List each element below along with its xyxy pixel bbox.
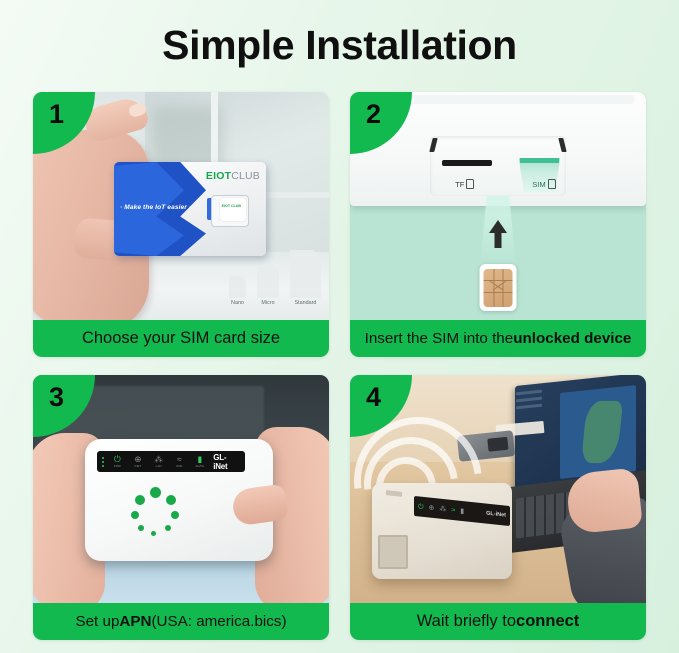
sim-size-standard: Standard (290, 250, 321, 306)
step-caption-4: Wait briefly to connect (350, 603, 646, 640)
spinner-dot (165, 525, 171, 531)
card-logo-primary: EIOT (206, 170, 231, 182)
step-number-4: 4 (366, 382, 381, 413)
router-brand-label: GL-iNet (486, 511, 506, 519)
signal-icon: ▮ (460, 507, 464, 514)
internet-label: INET (135, 464, 142, 468)
indicator-wifi: ≈ WIFI (172, 455, 187, 469)
spinner-dot (135, 495, 145, 505)
step-card-3: ⏻ PWR ⊕ INET ⁂ LAN ≈ WIFI (33, 375, 329, 640)
step-caption-4-pre: Wait briefly to (417, 612, 516, 631)
signal-label: 4G/5G (195, 464, 204, 468)
step-caption-3-pre: Set up (75, 613, 119, 630)
lan-label: LAN (156, 464, 162, 468)
router-brand-label: GL-iNet (213, 453, 240, 471)
spinner-dot (150, 487, 161, 498)
indicator-internet: ⊕ INET (131, 455, 146, 469)
sim-card: EIOTCLUB · Make the IoT easier · EIOT CL… (114, 162, 266, 256)
step-caption-2-bold: unlocked device (513, 330, 631, 347)
spinner-dot (171, 511, 179, 519)
micro-card-icon (257, 265, 279, 298)
battery-dots-icon (102, 457, 104, 467)
router-led-panel: ⏻ PWR ⊕ INET ⁂ LAN ≈ WIFI (97, 451, 245, 472)
battery-dot (102, 465, 104, 467)
tf-card-icon (466, 179, 474, 189)
spinner-dot (138, 525, 144, 531)
tf-slot-label: TF (455, 180, 464, 189)
router-ethernet-port (378, 535, 408, 569)
indicator-power: ⏻ PWR (110, 455, 125, 469)
power-icon: ⏻ (114, 455, 121, 464)
step-caption-2-text: Insert the SIM into the (365, 330, 514, 347)
loading-spinner-icon (129, 487, 181, 539)
sim-card-icon (548, 179, 556, 189)
card-tagline: · Make the IoT easier · (120, 204, 204, 211)
step-card-4: ⏻ ⊕ ⁂ ≈ ▮ GL-iNet 4 Wait briefly to conn… (350, 375, 646, 640)
lan-icon: ⁂ (154, 455, 163, 464)
installation-infographic: Simple Installation EIOTCLUB (0, 0, 679, 653)
globe-icon: ⊕ (134, 455, 141, 464)
step-caption-4-bold: connect (516, 612, 579, 631)
spinner-dot (151, 531, 156, 536)
step-number-1: 1 (49, 99, 64, 130)
spinner-dot (166, 495, 176, 505)
sidebar-line (516, 404, 542, 410)
micro-label: Micro (261, 300, 274, 306)
punch-out-sim-label: EIOT CLUB (222, 204, 241, 208)
sim-size-chart: Nano Micro Standard (229, 250, 321, 306)
sidebar-line (516, 397, 542, 403)
step-caption-3-post: (USA: america.bics) (151, 613, 286, 630)
signal-icon: ▮ (198, 455, 203, 464)
spinner-dot (131, 511, 139, 519)
chip-line (503, 269, 504, 307)
page-title: Simple Installation (0, 22, 679, 69)
sim-size-micro: Micro (257, 265, 279, 306)
tf-slot-label-group: TF (455, 179, 474, 189)
step-caption-1: Choose your SIM card size (33, 320, 329, 357)
battery-dot (102, 457, 104, 459)
step-caption-2: Insert the SIM into the unlocked device (350, 320, 646, 357)
power-label: PWR (114, 464, 121, 468)
card-logo-secondary: CLUB (231, 170, 260, 182)
lan-icon: ⁂ (439, 505, 446, 513)
standard-label: Standard (295, 300, 317, 306)
step-caption-3-bold: APN (119, 613, 151, 630)
sim-slot-label-group: SIM (532, 179, 556, 189)
nano-card-icon (229, 276, 246, 298)
sim-chip-contacts (484, 269, 513, 307)
sim-slot-opening (520, 158, 560, 163)
secondary-device-screen (487, 437, 508, 452)
indicator-lan: ⁂ LAN (151, 455, 166, 469)
nano-label: Nano (231, 300, 244, 306)
sim-size-nano: Nano (229, 276, 246, 306)
chip-line (484, 280, 513, 281)
battery-dot (102, 461, 104, 463)
card-logo: EIOTCLUB (206, 170, 260, 182)
steps-grid: EIOTCLUB · Make the IoT easier · EIOT CL… (33, 92, 646, 640)
up-arrow-stem (495, 232, 502, 248)
wifi-icon: ≈ (177, 455, 182, 464)
sim-slot-label: SIM (532, 180, 546, 189)
step-number-3: 3 (49, 382, 64, 413)
standard-card-icon (290, 250, 321, 298)
step-caption-3: Set up APN (USA: america.bics) (33, 603, 329, 640)
chip-line (484, 292, 513, 293)
wifi-label: WIFI (176, 464, 182, 468)
chip-line (492, 281, 506, 291)
power-icon: ⏻ (418, 503, 424, 511)
step-card-1: EIOTCLUB · Make the IoT easier · EIOT CL… (33, 92, 329, 357)
step-card-2: TF SIM (350, 92, 646, 357)
tf-slot (442, 160, 492, 166)
step-caption-1-text: Choose your SIM card size (82, 329, 280, 348)
globe-icon: ⊕ (429, 504, 435, 512)
wifi-icon: ≈ (451, 506, 455, 513)
sim-chip-card (480, 264, 517, 311)
indicator-signal: ▮ 4G/5G (193, 455, 208, 469)
punch-out-sim (220, 198, 246, 221)
step-number-2: 2 (366, 99, 381, 130)
